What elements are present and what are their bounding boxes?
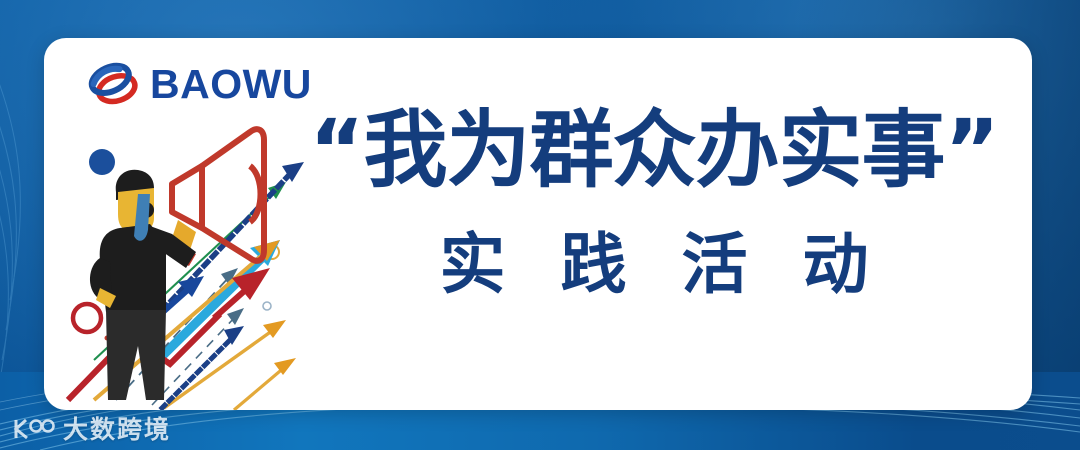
decor-circle-red bbox=[73, 304, 101, 332]
decor-dot-blue bbox=[89, 149, 115, 175]
brand-logo: BAOWU bbox=[88, 60, 312, 108]
baowu-rings-icon bbox=[88, 60, 140, 108]
person-icon bbox=[90, 170, 196, 400]
watermark-text: 大数跨境 bbox=[63, 417, 171, 442]
headline-block: “我为群众办实事” 实 践 活 动 bbox=[284, 94, 1024, 384]
decor-circle-grey bbox=[263, 302, 271, 310]
person-legs bbox=[106, 310, 166, 400]
headline-sub: 实 践 活 动 bbox=[424, 232, 885, 298]
dashu-logo-icon bbox=[10, 416, 56, 442]
headline-main: “我为群众办实事” bbox=[309, 108, 998, 194]
watermark: 大数跨境 bbox=[10, 416, 171, 442]
content-card: BAOWU “我为群众办实事” 实 践 活 动 bbox=[44, 38, 1032, 410]
banner-root: BAOWU “我为群众办实事” 实 践 活 动 大数跨境 bbox=[0, 0, 1080, 450]
